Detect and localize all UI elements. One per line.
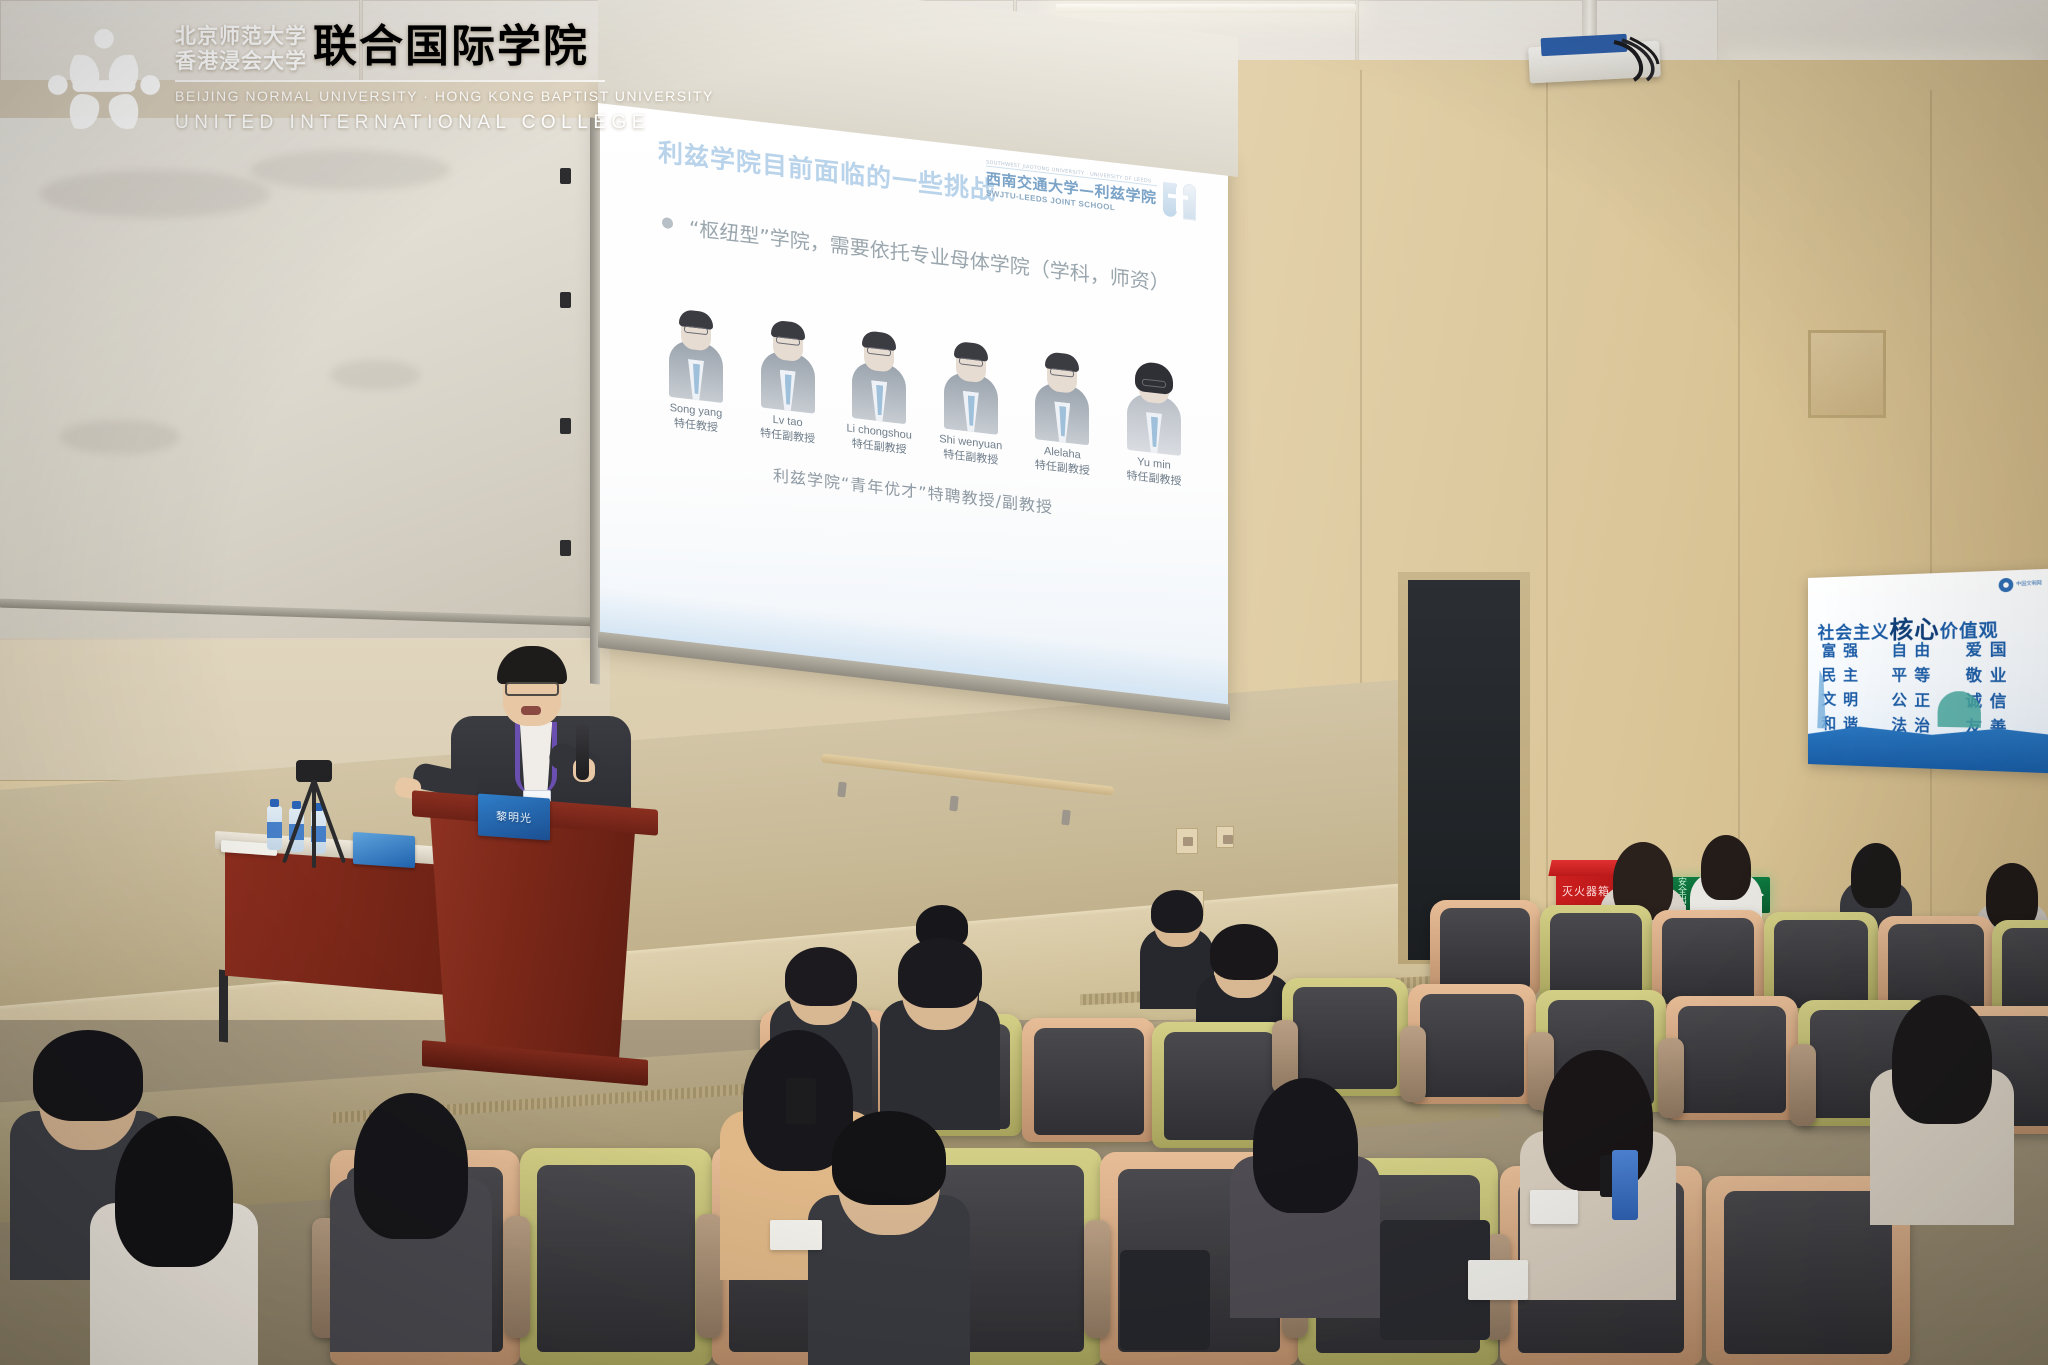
blue-name-card <box>353 832 415 868</box>
auditorium-seat[interactable] <box>1666 996 1798 1120</box>
audience-hair <box>898 938 982 1008</box>
civilization-net-logo-icon <box>1998 578 2013 593</box>
audience-member <box>880 930 1000 1120</box>
poster-value-1: 富强 <box>1822 639 1884 661</box>
slide-person-3: Li chongshou特任副教授 <box>843 307 915 458</box>
tripod-leg <box>312 780 316 868</box>
headshot-photo <box>1123 339 1185 456</box>
presentation-slide: 利兹学院目前面临的一些挑战 SOUTHWEST JIAOTONG UNIVERS… <box>598 84 1228 717</box>
presenter-mouth <box>521 706 541 715</box>
podium-name-card-text: 黎明光 <box>496 808 532 827</box>
socialist-core-values-poster: 中国文明网 社会主义核心价值观 富强自由爱国民主平等敬业文明公正诚信和谐法治友善 <box>1808 568 2048 773</box>
handrail-post <box>949 796 959 812</box>
wall-seam <box>1546 70 1548 920</box>
handheld-microphone <box>576 724 589 780</box>
board-clip <box>560 540 571 556</box>
wall-panel-frame <box>1808 330 1886 418</box>
wall-outlet[interactable] <box>1176 828 1198 854</box>
lecture-hall-photo: 北京师范大学 香港浸会大学 联合国际学院 BEIJING NORMAL UNIV… <box>0 0 2048 1365</box>
paper-handout <box>1468 1260 1528 1300</box>
auditorium-seat[interactable] <box>1408 984 1536 1104</box>
audience-member <box>330 1082 492 1339</box>
poster-value-3: 爱国 <box>1966 637 2035 660</box>
speaker-podium: 黎明光 <box>430 800 640 1090</box>
audience-hair <box>354 1093 467 1239</box>
poster-value-5: 平等 <box>1892 664 1957 686</box>
poster-value-6: 敬业 <box>1966 663 2035 686</box>
leeds-crest-icon <box>1163 182 1178 218</box>
slide-person-5: Alelaha特任副教授 <box>1026 328 1098 479</box>
presenter-hair <box>497 646 567 684</box>
slide-bullet-text: “枢纽型”学院，需要依托专业母体学院（学科，师资） <box>689 212 1170 297</box>
poster-value-2: 自由 <box>1892 638 1957 661</box>
seat-back-cushion <box>1774 920 1867 1008</box>
projector-cables <box>1610 36 1680 82</box>
poster-value-4: 民主 <box>1822 664 1884 686</box>
slide-person-4: Shi wenyuan特任副教授 <box>935 318 1007 469</box>
handrail-post <box>1061 810 1071 826</box>
handrail-post <box>837 782 847 798</box>
table-leg <box>219 970 228 1043</box>
slide-person-6: Yu min特任副教授 <box>1118 339 1190 490</box>
audience-member <box>90 1105 258 1365</box>
slide-title: 利兹学院目前面临的一些挑战 <box>658 132 996 207</box>
seat-armrest <box>1790 1044 1816 1126</box>
poster-brand-text: 中国文明网 <box>2016 581 2042 588</box>
wall-seam <box>1738 80 1740 920</box>
audience-member <box>1230 1068 1380 1306</box>
audience-hair <box>1253 1078 1358 1213</box>
tripod-leg <box>312 779 346 863</box>
paper-handout <box>1530 1190 1578 1224</box>
podium-name-card: 黎明光 <box>478 793 550 840</box>
poster-values-grid: 富强自由爱国民主平等敬业文明公正诚信和谐法治友善 <box>1822 637 2035 739</box>
audience-hair <box>1210 924 1277 980</box>
audience-hair <box>1892 995 1993 1125</box>
seat-back-cushion <box>537 1165 694 1352</box>
auditorium-seat[interactable] <box>1430 900 1540 996</box>
auditorium-seat[interactable] <box>1540 905 1652 1003</box>
tripod-camera-rig <box>278 760 348 870</box>
headshot-photo <box>665 286 727 403</box>
board-clip <box>560 418 571 434</box>
slide-bullet-item: “枢纽型”学院，需要依托专业母体学院（学科，师资） <box>662 209 1170 297</box>
projection-screen: 利兹学院目前面临的一些挑战 SOUTHWEST JIAOTONG UNIVERS… <box>598 84 1228 717</box>
seat-armrest <box>1400 1026 1426 1102</box>
bullet-dot-icon <box>662 217 673 229</box>
seat-armrest <box>696 1214 722 1338</box>
audience-member <box>1870 985 2014 1213</box>
wall-stain <box>40 170 270 218</box>
seat-back-cushion <box>1550 913 1642 997</box>
slide-person-2: Lv tao特任副教授 <box>752 296 824 447</box>
seat-back-cushion <box>1420 994 1525 1097</box>
seat-armrest <box>504 1216 530 1338</box>
seat-armrest <box>1084 1220 1110 1338</box>
tripod-leg <box>282 779 316 863</box>
auditorium-seat[interactable] <box>1022 1018 1156 1142</box>
ceiling-light <box>1056 4 1356 13</box>
auditorium-seat[interactable] <box>1652 910 1764 1010</box>
screen-frame <box>590 117 600 684</box>
headshot-photo <box>848 308 910 425</box>
audience-hair <box>785 947 856 1007</box>
seat-back-cushion <box>1678 1006 1786 1113</box>
swjtu-arch-icon <box>1183 183 1196 220</box>
audience-hair <box>115 1116 233 1267</box>
poster-brand: 中国文明网 <box>1998 577 2042 593</box>
headshot-hair <box>1135 361 1173 395</box>
poster-value-7: 文明 <box>1822 688 1884 710</box>
slide-person-1: Song yang特任教授 <box>660 286 732 437</box>
audience-water-bottle <box>1612 1150 1638 1220</box>
board-clip <box>560 292 571 308</box>
seat-back-cushion <box>1662 918 1754 1004</box>
wall-stain <box>330 360 420 390</box>
glasses-icon <box>505 682 559 696</box>
headshot-photo <box>1031 329 1093 446</box>
mobile-phone <box>786 1078 816 1124</box>
audience-hair <box>832 1111 945 1206</box>
audience-hair <box>1851 843 1901 908</box>
audience-member <box>808 1100 970 1357</box>
seat-back-cushion <box>1724 1191 1891 1354</box>
board-clip <box>560 168 571 184</box>
headshot-photo <box>940 318 1002 435</box>
wall-stain <box>250 150 450 190</box>
podium-body <box>430 813 635 1066</box>
backpack <box>1120 1250 1210 1350</box>
audience-member <box>1520 1040 1676 1287</box>
paper-handout <box>770 1220 822 1250</box>
headshot-photo <box>757 297 819 414</box>
auditorium-seat[interactable] <box>520 1148 712 1365</box>
poster-hill-graphic <box>1938 691 1981 728</box>
wall-switch[interactable] <box>1216 826 1234 848</box>
seat-back-cushion <box>1440 908 1530 991</box>
audience-hair <box>1701 835 1751 900</box>
seat-back-cushion <box>1034 1028 1144 1135</box>
wall-stain <box>60 420 180 454</box>
wall-seam <box>1930 90 1932 930</box>
